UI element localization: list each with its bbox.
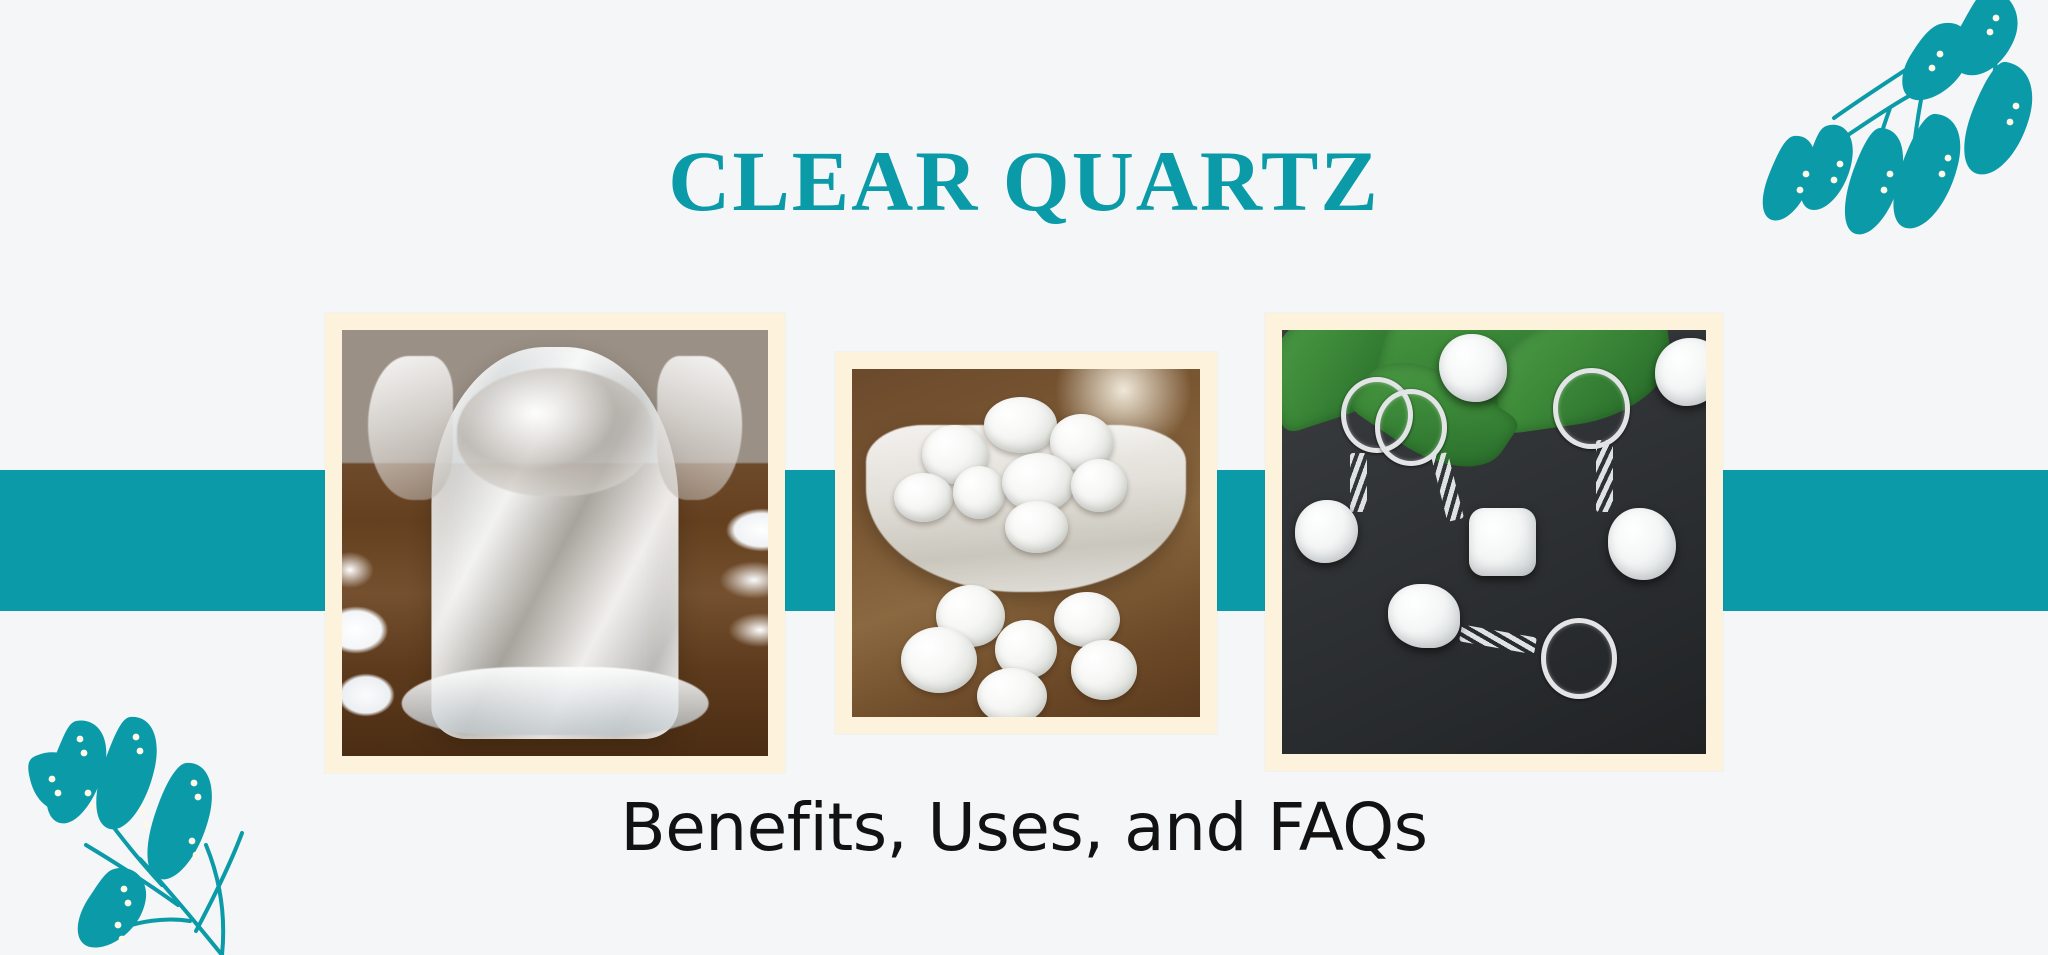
quartz-keychain-stone [1469,508,1537,576]
page-subtitle: Benefits, Uses, and FAQs [0,792,2048,865]
quartz-stone [977,668,1047,717]
photo-frame-ganesha [325,313,785,773]
photo-keychains [1282,330,1706,754]
page-title: CLEAR QUARTZ [0,138,2048,224]
photo-frame-keychains [1265,313,1723,771]
photo-ganesha [342,330,768,756]
keychain-chain [1459,625,1537,655]
quartz-stone [953,466,1005,518]
keychain-chain [1350,453,1367,512]
clear-quartz-banner: CLEAR QUARTZ [0,0,2048,955]
quartz-stone [1054,592,1120,648]
ganesha-ear-left-shape [368,356,453,501]
photo-frame-tumbled-stones [835,352,1217,734]
keychain-chain [1596,440,1613,512]
ganesha-head-shape [457,368,653,496]
quartz-stone [1005,501,1068,553]
quartz-keychain-stone [1608,508,1676,580]
keychain-ring [1541,618,1617,699]
photo-tumbled-stones [852,369,1200,717]
quartz-stone [984,397,1057,453]
quartz-keychain-stone [1388,584,1460,648]
quartz-keychain-stone [1295,500,1359,564]
quartz-keychain-stone [1439,334,1507,402]
quartz-stone [1071,640,1137,699]
ganesha-base-shape [402,667,709,735]
quartz-stone [1071,459,1127,511]
quartz-stone [901,627,978,693]
quartz-stone [894,473,953,522]
ganesha-ear-right-shape [657,356,742,501]
keychain-ring [1553,368,1629,449]
